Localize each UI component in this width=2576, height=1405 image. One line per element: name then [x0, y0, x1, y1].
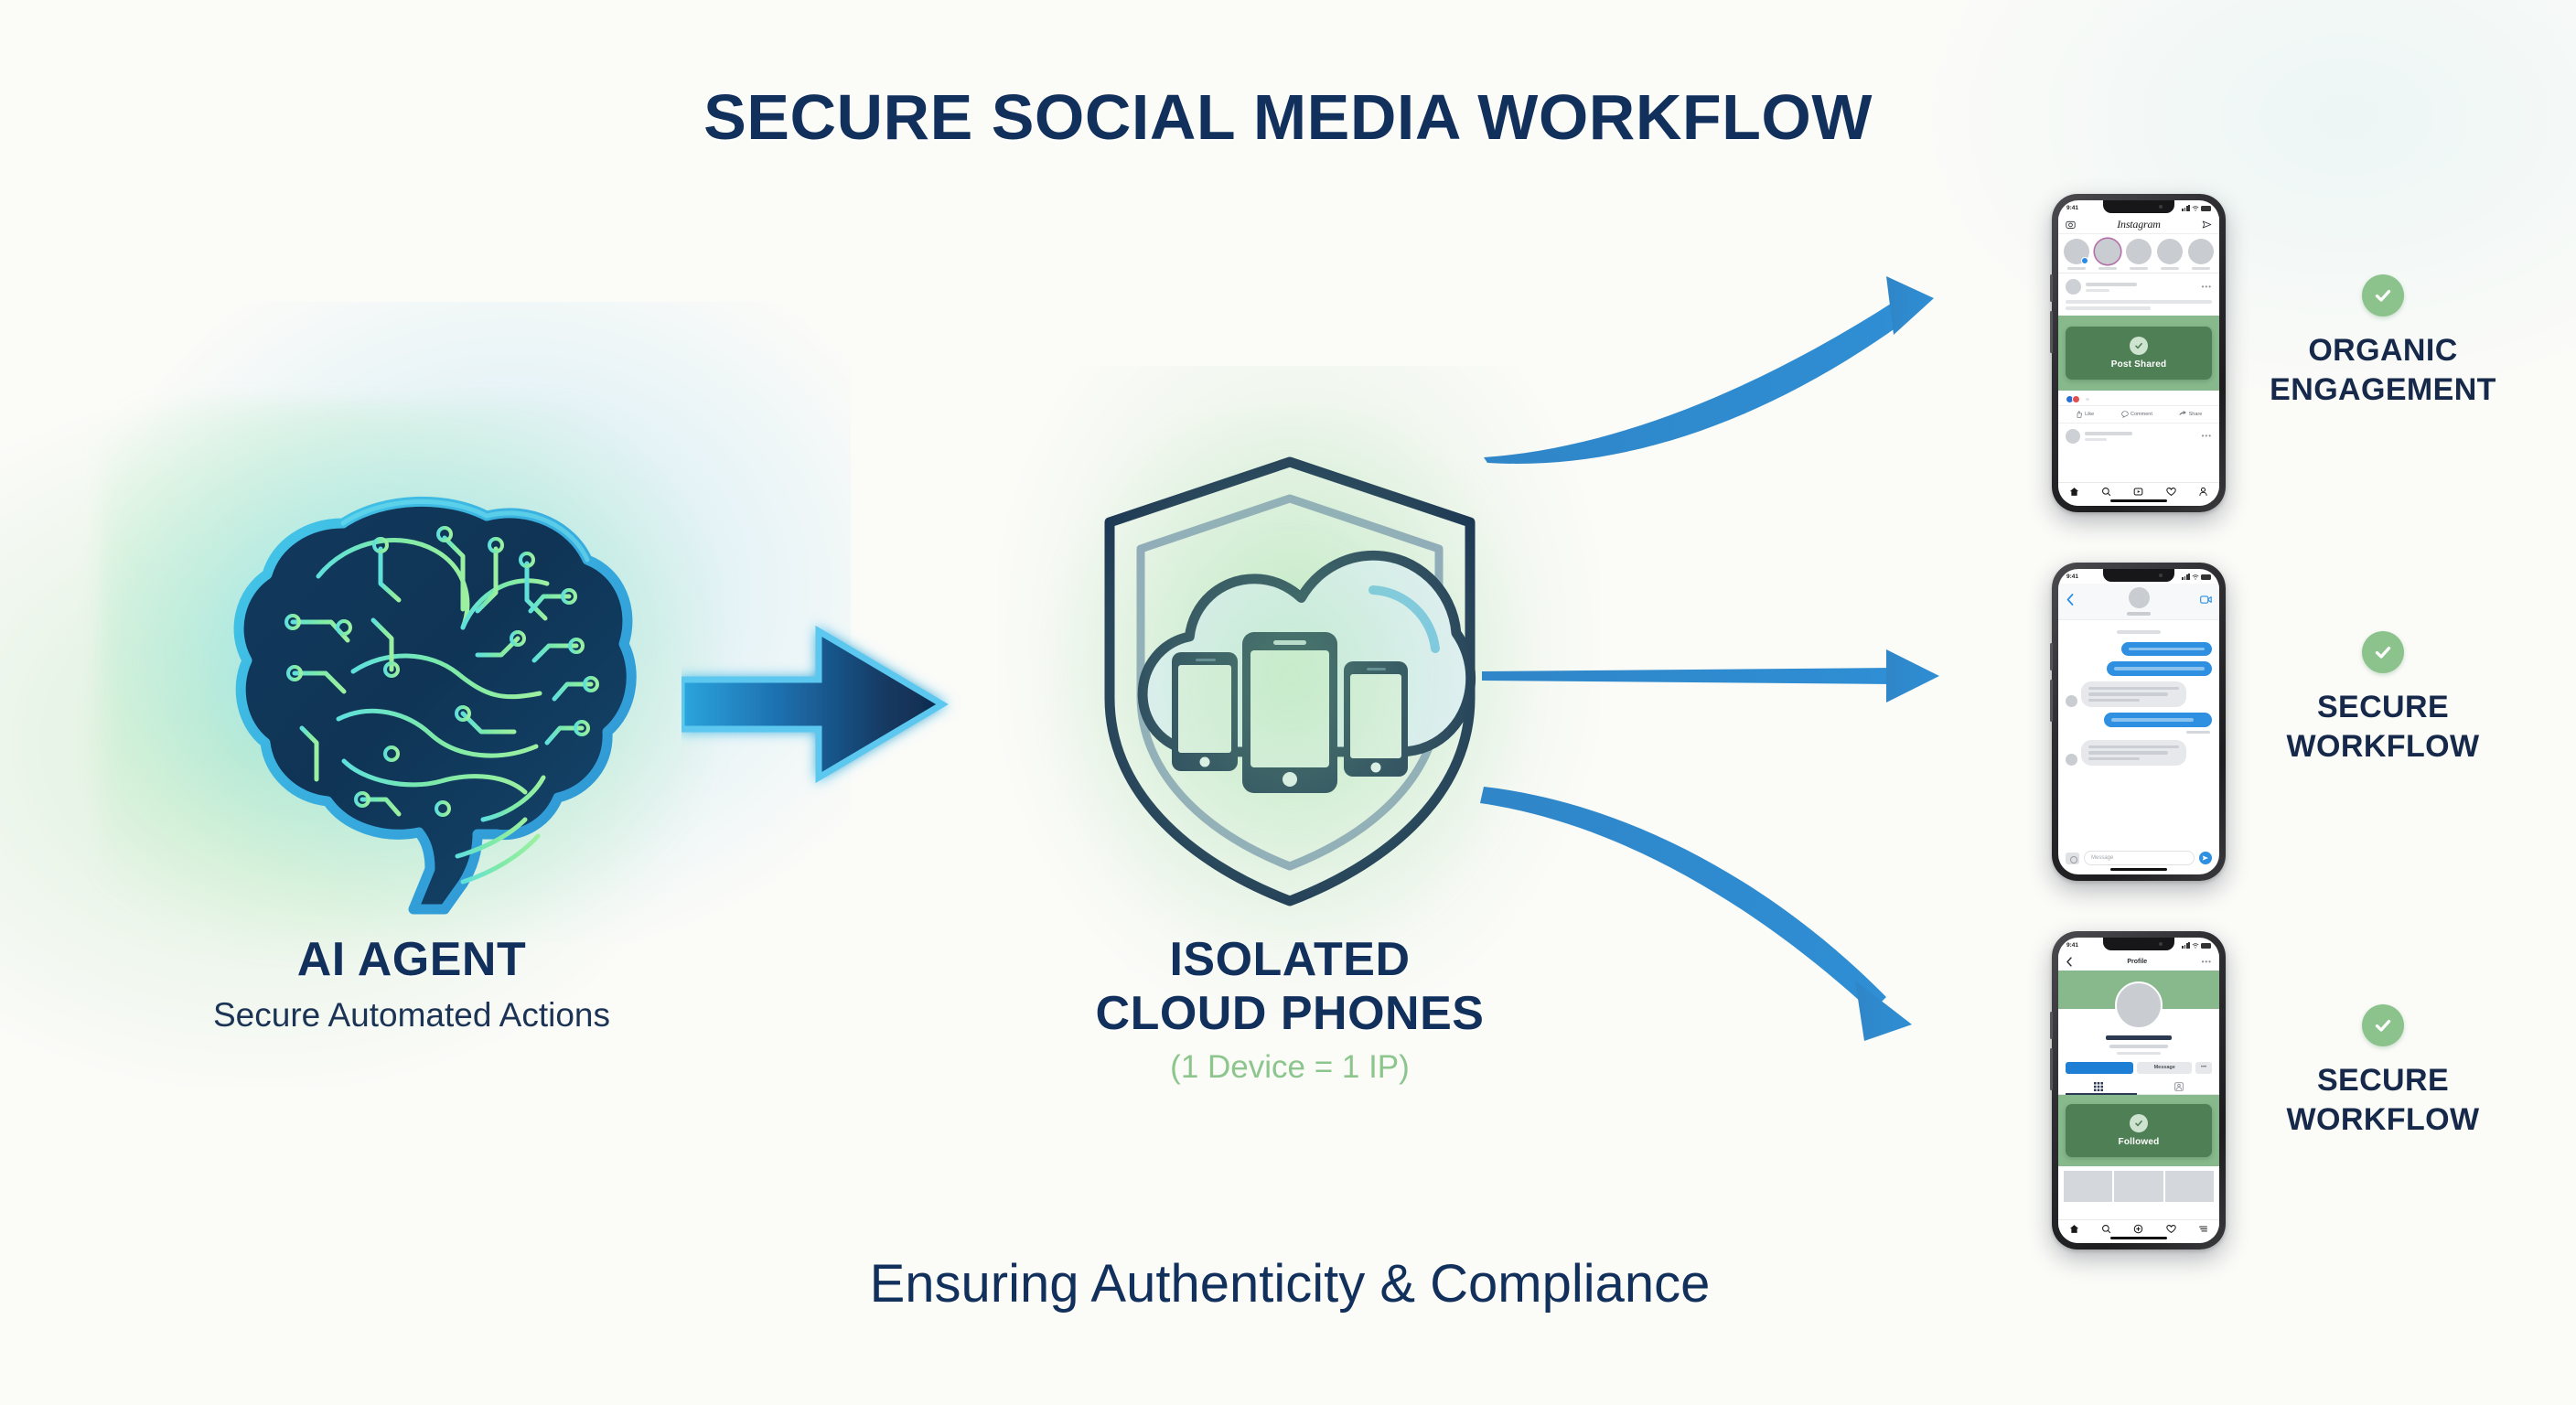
search-icon[interactable] [2101, 487, 2111, 497]
follow-button[interactable] [2066, 1062, 2133, 1074]
photo-tile[interactable] [2114, 1171, 2163, 1202]
more-dots-icon[interactable]: ••• [2195, 1062, 2212, 1074]
cloud-phones-title-line2: CLOUD PHONES [1015, 987, 1564, 1041]
profile-avatar [2115, 981, 2163, 1029]
wifi-icon [2192, 943, 2199, 949]
post-body [2058, 298, 2219, 316]
avatar [2066, 279, 2081, 295]
battery-icon [2201, 943, 2211, 949]
video-camera-icon[interactable] [2200, 595, 2212, 605]
check-circle-icon [2362, 274, 2404, 316]
status-time: 9:41 [2066, 574, 2078, 580]
search-icon[interactable] [2101, 1224, 2111, 1234]
phone1-bottom-nav [2058, 482, 2219, 506]
phone-mockup-feed: 9:41 Instagram [2052, 194, 2226, 512]
message-bubble-outgoing [2104, 713, 2212, 727]
avatar [2066, 695, 2077, 707]
notch [2103, 938, 2174, 950]
send-icon[interactable] [2202, 220, 2212, 230]
message-row-incoming [2066, 740, 2212, 767]
chat-thread [2058, 620, 2219, 766]
post-shared-text: Post Shared [2071, 359, 2206, 370]
battery-icon [2201, 206, 2211, 211]
tagged-icon[interactable] [2174, 1082, 2184, 1091]
phone3-screen: 9:41 Profile ••• Message ••• [2058, 938, 2219, 1243]
reels-icon[interactable] [2133, 487, 2143, 497]
result-label-line2: ENGAGEMENT [2232, 370, 2534, 410]
share-button[interactable]: Share [2179, 411, 2202, 418]
isolated-cloud-phones-node [1093, 453, 1487, 910]
result-label-line2: WORKFLOW [2232, 1100, 2534, 1140]
result-organic-engagement: ORGANIC ENGAGEMENT [2232, 274, 2534, 409]
result-label-line2: WORKFLOW [2232, 727, 2534, 767]
home-icon[interactable] [2069, 487, 2079, 497]
phone3-bottom-nav [2058, 1219, 2219, 1243]
message-composer: Message [2058, 851, 2219, 865]
check-circle-icon [2130, 337, 2148, 355]
result-secure-workflow-2: SECURE WORKFLOW [2232, 1004, 2534, 1139]
reaction-row [2058, 391, 2219, 405]
profile-handle [2109, 1045, 2168, 1048]
followed-text: Followed [2071, 1137, 2206, 1147]
post-action-bar: Like Comment Share [2058, 405, 2219, 424]
ai-agent-labels: AI AGENT Secure Automated Actions [37, 933, 787, 1035]
phone1-screen: 9:41 Instagram [2058, 200, 2219, 506]
signal-icon [2182, 205, 2190, 211]
ai-agent-title: AI AGENT [37, 933, 787, 987]
cloud-phones-note: (1 Device = 1 IP) [1015, 1049, 1564, 1086]
wifi-icon [2192, 206, 2199, 211]
message-bubble-outgoing [2107, 661, 2212, 676]
add-story-badge[interactable] [2081, 257, 2088, 264]
message-placeholder: Message [2091, 855, 2113, 861]
page-title: SECURE SOCIAL MEDIA WORKFLOW [0, 80, 2576, 154]
check-circle-icon [2362, 631, 2404, 673]
infographic-canvas: SECURE SOCIAL MEDIA WORKFLOW [0, 0, 2576, 1405]
result-label-line1: SECURE [2232, 688, 2534, 727]
camera-icon[interactable] [2066, 853, 2079, 864]
more-dots-icon[interactable]: ••• [2202, 283, 2212, 291]
story-item[interactable] [2063, 239, 2091, 270]
notch [2103, 200, 2174, 213]
contact-name [2127, 612, 2151, 616]
status-icons [2182, 205, 2211, 211]
curved-arrow-up-icon [1484, 276, 1934, 464]
home-indicator [2110, 1237, 2167, 1239]
check-circle-icon [2130, 1114, 2148, 1132]
result-label-line1: ORGANIC [2232, 331, 2534, 370]
photo-tile[interactable] [2064, 1171, 2112, 1202]
phone2-screen: 9:41 [2058, 569, 2219, 874]
phone-mockup-profile: 9:41 Profile ••• Message ••• [2052, 931, 2226, 1249]
like-button[interactable]: Like [2076, 411, 2095, 418]
status-time: 9:41 [2066, 205, 2078, 211]
cloud-phones-title-line1: ISOLATED [1015, 933, 1564, 987]
ai-agent-subtitle: Secure Automated Actions [37, 996, 787, 1035]
profile-tabs [2058, 1078, 2219, 1095]
cloud-phones-labels: ISOLATED CLOUD PHONES (1 Device = 1 IP) [1015, 933, 1564, 1086]
straight-arrow-right-icon [1482, 649, 1939, 702]
message-bubble-incoming [2081, 681, 2186, 708]
footer-tagline: Ensuring Authenticity & Compliance [549, 1253, 2031, 1314]
circuit-brain-icon [156, 439, 668, 915]
home-indicator [2110, 868, 2167, 871]
notch [2103, 569, 2174, 582]
instagram-logo: Instagram [2117, 218, 2161, 231]
post-shared-toast: Post Shared [2066, 327, 2212, 380]
signal-icon [2182, 942, 2190, 949]
avatar [2066, 429, 2080, 444]
stories-row [2058, 234, 2219, 273]
shield-glow [1043, 412, 1537, 960]
story-item[interactable] [2125, 239, 2153, 270]
message-input[interactable]: Message [2084, 851, 2195, 865]
story-item[interactable] [2094, 239, 2122, 270]
check-circle-icon [2362, 1004, 2404, 1046]
dm-header [2058, 584, 2219, 620]
signal-icon [2182, 574, 2190, 580]
story-item[interactable] [2155, 239, 2184, 270]
share-icon [2179, 411, 2186, 418]
photo-grid [2058, 1166, 2219, 1207]
camera-icon[interactable] [2066, 220, 2076, 230]
followed-band: Followed [2058, 1095, 2219, 1166]
instagram-header: Instagram [2058, 215, 2219, 234]
phone-mockup-messages: 9:41 [2052, 563, 2226, 881]
chevron-left-icon[interactable] [2066, 594, 2075, 606]
menu-icon[interactable] [2198, 1224, 2208, 1234]
battery-icon [2201, 574, 2211, 580]
more-dots-icon[interactable]: ••• [2202, 432, 2212, 440]
heart-icon[interactable] [2166, 1224, 2176, 1234]
send-circle-icon[interactable] [2199, 852, 2212, 864]
message-bubble-incoming [2081, 740, 2186, 767]
story-item[interactable] [2186, 239, 2215, 270]
more-dots-icon[interactable]: ••• [2202, 958, 2212, 966]
status-icons [2182, 574, 2211, 580]
post-header: ••• [2058, 424, 2219, 447]
avatar[interactable] [2129, 587, 2150, 608]
post-meta [2085, 432, 2197, 441]
profile-name [2106, 1035, 2172, 1040]
profile-header: Profile ••• [2058, 952, 2219, 971]
avatar [2066, 754, 2077, 766]
home-icon[interactable] [2069, 1224, 2079, 1234]
ai-agent-node [156, 439, 668, 915]
profile-title: Profile [2127, 959, 2147, 965]
result-secure-workflow-1: SECURE WORKFLOW [2232, 631, 2534, 766]
grid-icon[interactable] [2094, 1082, 2103, 1091]
photo-tile[interactable] [2165, 1171, 2214, 1202]
add-circle-icon[interactable] [2133, 1224, 2143, 1234]
chevron-left-icon[interactable] [2066, 957, 2073, 967]
profile-buttons: Message ••• [2058, 1055, 2219, 1078]
comment-icon [2121, 411, 2129, 418]
comment-button[interactable]: Comment [2121, 411, 2152, 418]
thumbs-up-icon [2076, 411, 2083, 418]
home-indicator [2110, 499, 2167, 502]
post-header: ••• [2058, 273, 2219, 298]
message-row-incoming [2066, 681, 2212, 708]
seen-indicator [2186, 731, 2210, 734]
message-button[interactable]: Message [2137, 1062, 2192, 1074]
result-label-line1: SECURE [2232, 1061, 2534, 1100]
message-bubble-outgoing [2121, 642, 2212, 657]
post-shared-band: Post Shared [2058, 316, 2219, 391]
post-meta [2086, 283, 2197, 292]
wifi-icon [2192, 574, 2199, 580]
status-icons [2182, 942, 2211, 949]
heart-icon[interactable] [2166, 487, 2176, 497]
chat-timestamp [2117, 630, 2161, 634]
profile-icon[interactable] [2198, 487, 2208, 497]
status-time: 9:41 [2066, 942, 2078, 949]
followed-toast: Followed [2066, 1104, 2212, 1157]
